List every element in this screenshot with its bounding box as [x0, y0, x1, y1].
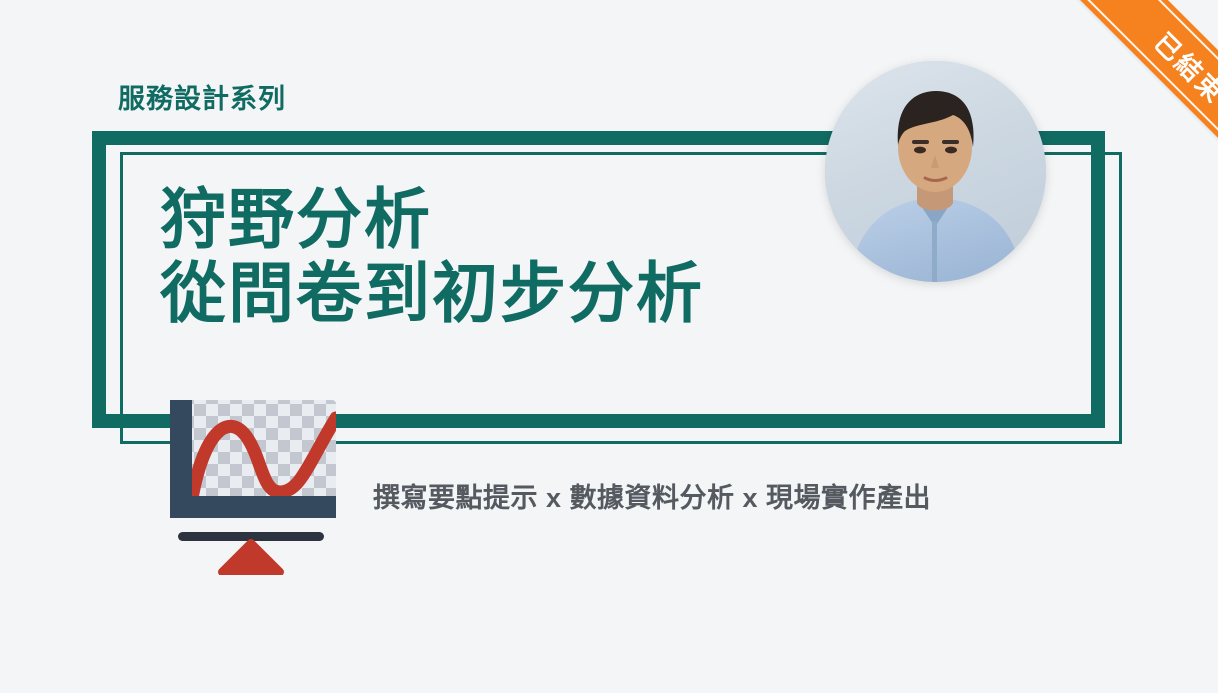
- course-banner: 服務設計系列 狩野分析 從問卷到初步分析 撰寫要點提示 x 數據資料分析 x 現…: [0, 0, 1218, 693]
- title-line-1: 狩野分析: [160, 183, 704, 257]
- title-line-2: 從問卷到初步分析: [160, 257, 704, 331]
- series-label: 服務設計系列: [118, 77, 286, 116]
- status-badge: 已結束: [1147, 23, 1218, 111]
- chart-monitor-icon: [158, 392, 343, 575]
- page-title: 狩野分析 從問卷到初步分析: [160, 183, 704, 331]
- status-ribbon: 已結束: [1003, 0, 1218, 215]
- subtitle: 撰寫要點提示 x 數據資料分析 x 現場實作產出: [373, 476, 931, 515]
- status-ribbon-band: 已結束: [1056, 0, 1218, 202]
